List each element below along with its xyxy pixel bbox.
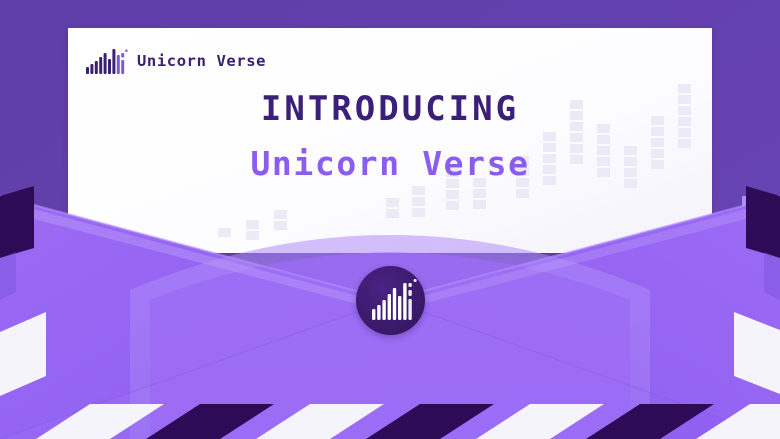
headline-block: INTRODUCING Unicorn Verse [68, 90, 712, 183]
page-subtitle: Unicorn Verse [68, 145, 712, 183]
brand-lockup: Unicorn Verse [86, 48, 266, 74]
brand-name-label: Unicorn Verse [137, 52, 266, 70]
banner-canvas: Unicorn Verse INTRODUCING Unicorn Verse [0, 0, 780, 439]
bar-chart-logo-icon [86, 48, 128, 74]
center-logo-badge [356, 266, 425, 335]
bar-chart-logo-icon [356, 266, 425, 335]
page-title: INTRODUCING [68, 90, 712, 129]
announcement-card: Unicorn Verse INTRODUCING Unicorn Verse [68, 28, 712, 253]
